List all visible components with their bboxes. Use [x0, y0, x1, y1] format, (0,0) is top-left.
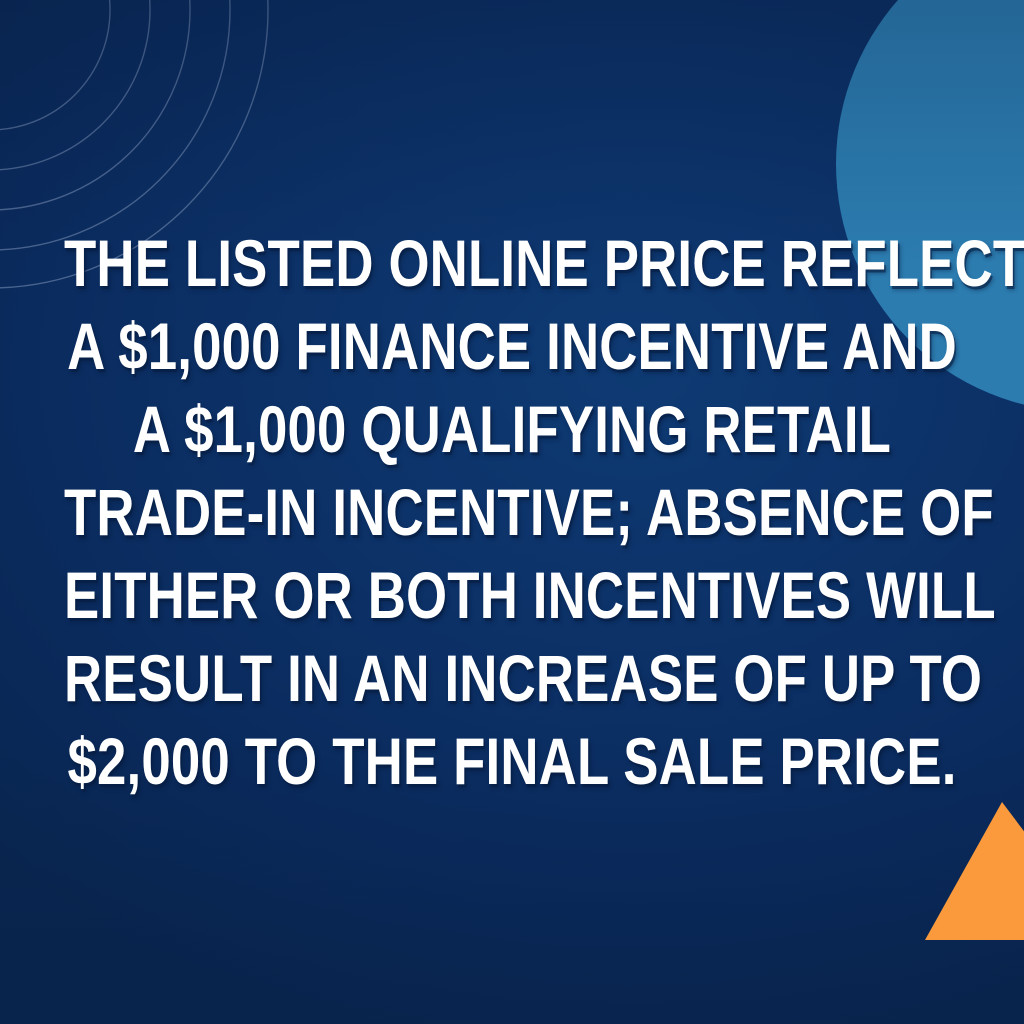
- disclaimer-line-5: EITHER OR BOTH INCENTIVES WILL: [64, 554, 960, 637]
- disclaimer-text-block: THE LISTED ONLINE PRICE REFLECTS A $1,00…: [0, 222, 1024, 803]
- disclaimer-line-7: $2,000 TO THE FINAL SALE PRICE.: [64, 720, 960, 803]
- disclaimer-line-2: A $1,000 FINANCE INCENTIVE AND: [64, 305, 960, 388]
- disclaimer-line-3: A $1,000 QUALIFYING RETAIL: [64, 388, 960, 471]
- disclaimer-line-6: RESULT IN AN INCREASE OF UP TO: [64, 637, 960, 720]
- promo-disclaimer-card: THE LISTED ONLINE PRICE REFLECTS A $1,00…: [0, 0, 1024, 1024]
- disclaimer-line-4: TRADE-IN INCENTIVE; ABSENCE OF: [64, 471, 960, 554]
- disclaimer-line-1: THE LISTED ONLINE PRICE REFLECTS: [64, 222, 960, 305]
